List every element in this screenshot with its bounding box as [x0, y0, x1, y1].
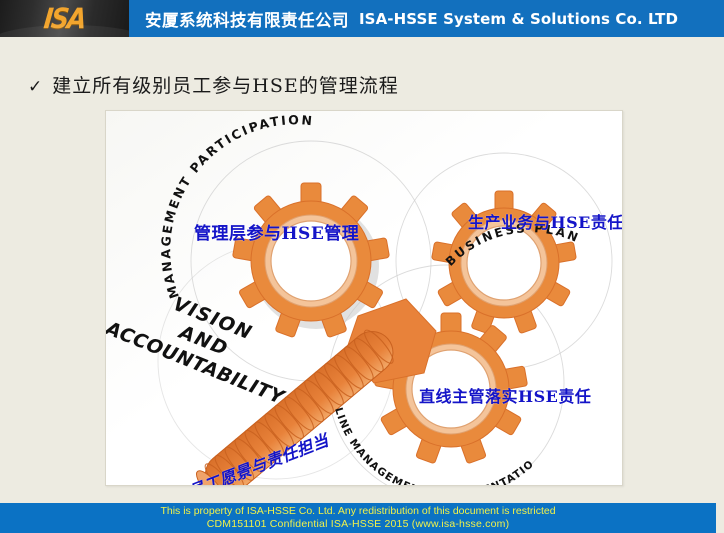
page-footer: This is property of ISA-HSSE Co. Ltd. An… [0, 503, 716, 533]
overlay-label-management-participation: 管理层参与HSE管理 [194, 219, 359, 244]
header-title-bar: 安厦系统科技有限责任公司 ISA-HSSE System & Solutions… [129, 0, 724, 37]
overlay-label-line-management: 直线主管落实HSE责任 [419, 383, 591, 407]
slide-title: ✓建立所有级别员工参与HSE的管理流程 [28, 71, 399, 98]
footer-copyright-line-2: CDM151101 Confidential ISA-HSSE 2015 (ww… [207, 518, 510, 531]
checkmark-icon: ✓ [28, 77, 43, 97]
overlay-label-business-plan: 生产业务与HSE责任相结合 [468, 209, 623, 233]
page-header: ISA 安厦系统科技有限责任公司 ISA-HSSE System & Solut… [0, 0, 724, 37]
company-name-en: ISA-HSSE System & Solutions Co. LTD [359, 10, 678, 28]
gear-diagram: MANAGEMENT PARTICIPATION BUSINESS PLAN L… [105, 110, 623, 486]
isa-logo-text: ISA [43, 5, 87, 33]
brand-logo: ISA [0, 0, 129, 37]
slide-title-text: 建立所有级别员工参与HSE的管理流程 [52, 75, 398, 97]
gear-diagram-svg: MANAGEMENT PARTICIPATION BUSINESS PLAN L… [106, 111, 622, 485]
gear-diagram-canvas: MANAGEMENT PARTICIPATION BUSINESS PLAN L… [106, 111, 622, 485]
company-name-cn: 安厦系统科技有限责任公司 [145, 7, 349, 31]
footer-copyright-line-1: This is property of ISA-HSSE Co. Ltd. An… [160, 505, 555, 518]
